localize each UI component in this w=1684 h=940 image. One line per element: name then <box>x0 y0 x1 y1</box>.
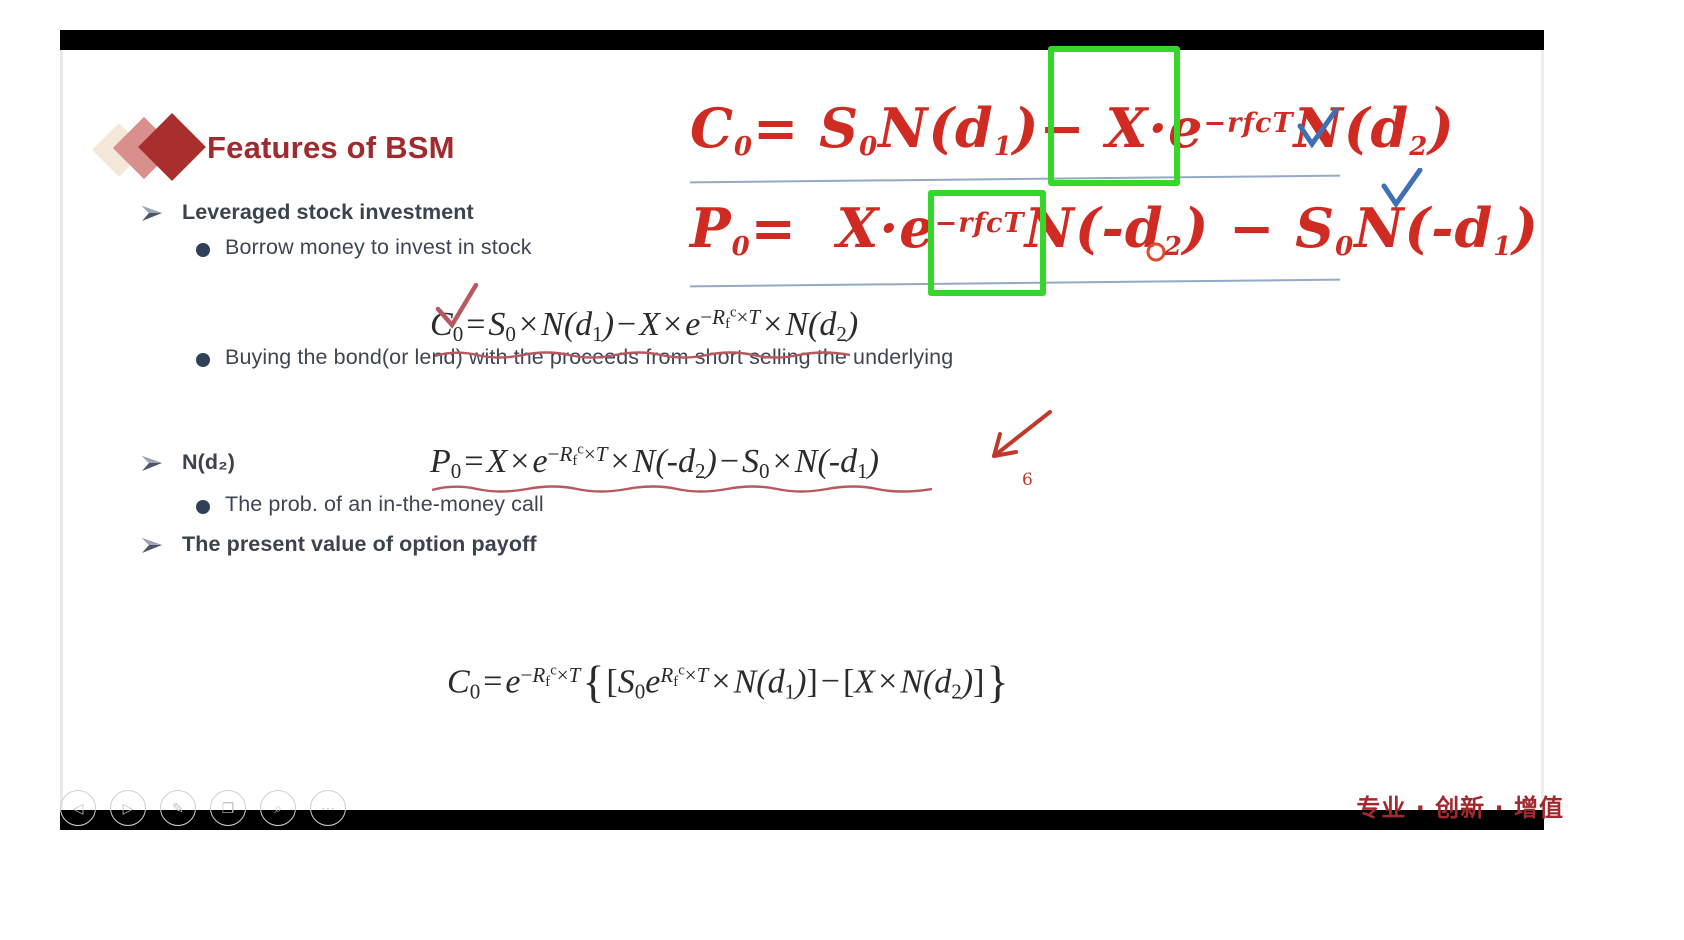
zoom-tool-button[interactable]: ⌕ <box>260 790 296 826</box>
slide-right-edge <box>1541 50 1544 810</box>
previous-slide-button[interactable]: ◁ <box>60 790 96 826</box>
ellipsis-icon: ⋯ <box>321 800 335 817</box>
next-slide-icon: ▷ <box>123 800 134 817</box>
dot-bullet-icon <box>196 243 210 257</box>
page-title: Features of BSM <box>207 130 455 166</box>
bullet-present-value-of-option-payoff: The present value of option payoff <box>140 532 537 557</box>
bullet-n-d2: N(d₂) <box>140 450 235 475</box>
slide-left-edge <box>60 50 63 810</box>
bullet-leveraged-stock-investment: Leveraged stock investment <box>140 200 474 225</box>
pen-icon: ✎ <box>172 800 184 817</box>
more-options-button[interactable]: ⋯ <box>310 790 346 826</box>
arrow-bullet-icon <box>140 203 166 225</box>
bullet-label: Leveraged stock investment <box>182 200 474 225</box>
slide-overview-button[interactable]: ❐ <box>210 790 246 826</box>
dot-bullet-icon <box>196 353 210 367</box>
magnifier-icon: ⌕ <box>274 800 282 817</box>
bullet-borrow-money: Borrow money to invest in stock <box>196 235 532 260</box>
formula-call-price: C0=S0×N(d1)−X×e−Rfc×T×N(d2) <box>430 305 858 347</box>
formula-pv-of-option-payoff: C0=e−Rfc×T{[S0eRfc×T×N(d1)]−[X×N(d2)]} <box>447 655 1010 708</box>
red-squiggle-underline-put <box>432 483 932 495</box>
footer-brand-text: 专业 · 创新 · 增值 <box>1356 788 1564 823</box>
previous-slide-icon: ◁ <box>73 800 84 817</box>
diamond-bullet-icon <box>100 119 205 177</box>
dot-bullet-icon <box>196 500 210 514</box>
arrow-bullet-icon <box>140 453 166 475</box>
slide-title-row: Features of BSM <box>100 118 455 178</box>
bullet-label: N(d₂) <box>182 450 235 475</box>
red-squiggle-underline-call <box>435 349 850 361</box>
bullet-prob-in-the-money-call: The prob. of an in-the-money call <box>196 492 544 517</box>
bullet-label: The prob. of an in-the-money call <box>225 492 544 517</box>
presentation-toolbar[interactable]: ◁ ▷ ✎ ❐ ⌕ ⋯ <box>60 790 346 826</box>
bullet-label: Borrow money to invest in stock <box>225 235 532 260</box>
next-slide-button[interactable]: ▷ <box>110 790 146 826</box>
pen-tool-button[interactable]: ✎ <box>160 790 196 826</box>
formula-put-price: P0=X×e−Rfc×T×N(-d2)−S0×N(-d1) <box>430 442 879 484</box>
arrow-bullet-icon <box>140 535 166 557</box>
bullet-label: The present value of option payoff <box>182 532 537 557</box>
grid-icon: ❐ <box>222 800 235 817</box>
